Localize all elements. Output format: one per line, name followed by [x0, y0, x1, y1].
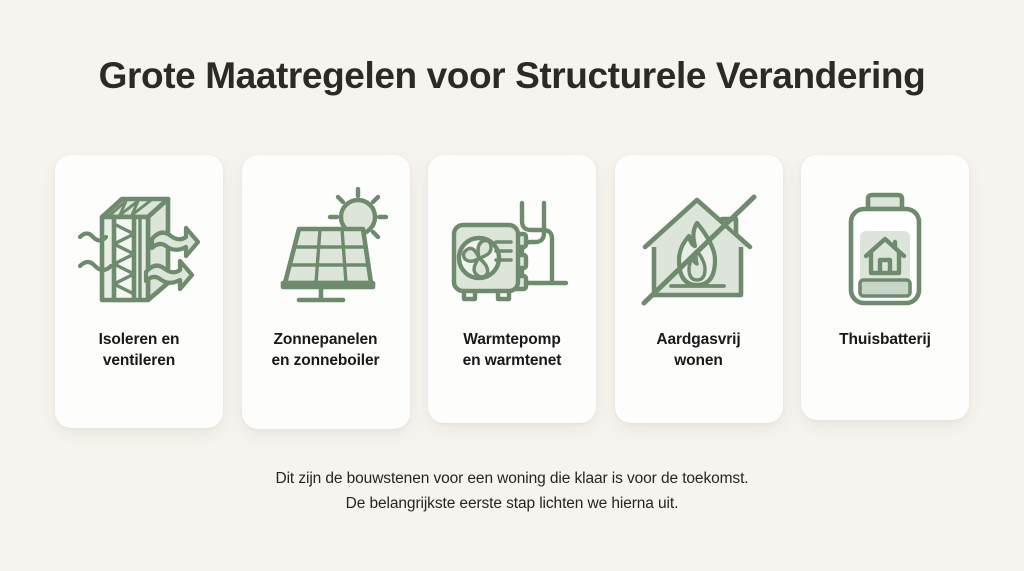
home-battery-icon	[811, 173, 959, 323]
insulated-wall-airflow-icon	[65, 173, 213, 323]
card-aardgasvrij-wonen[interactable]: Aardgasvrij wonen	[615, 155, 783, 423]
card-zonnepanelen-en-zonneboiler[interactable]: Zonnepanelen en zonneboiler	[242, 155, 410, 429]
solar-panel-sun-icon	[252, 173, 400, 323]
slide-caption: Dit zijn de bouwstenen voor een woning d…	[0, 466, 1024, 516]
card-label: Warmtepomp en warmtenet	[463, 329, 562, 372]
card-label: Aardgasvrij wonen	[656, 329, 740, 372]
card-thuisbatterij[interactable]: Thuisbatterij	[801, 155, 969, 420]
card-label: Thuisbatterij	[839, 329, 931, 350]
card-label: Isoleren en ventileren	[99, 329, 180, 372]
house-flame-crossed-out-icon	[625, 173, 773, 323]
heat-pump-icon	[438, 173, 586, 323]
card-label: Zonnepanelen en zonneboiler	[272, 329, 380, 372]
measures-card-row: Isoleren en ventileren	[55, 155, 969, 429]
card-isoleren-en-ventileren[interactable]: Isoleren en ventileren	[55, 155, 223, 428]
page-title: Grote Maatregelen voor Structurele Veran…	[0, 55, 1024, 98]
card-warmtepomp-en-warmtenet[interactable]: Warmtepomp en warmtenet	[428, 155, 596, 423]
slide-root: Grote Maatregelen voor Structurele Veran…	[0, 0, 1024, 571]
